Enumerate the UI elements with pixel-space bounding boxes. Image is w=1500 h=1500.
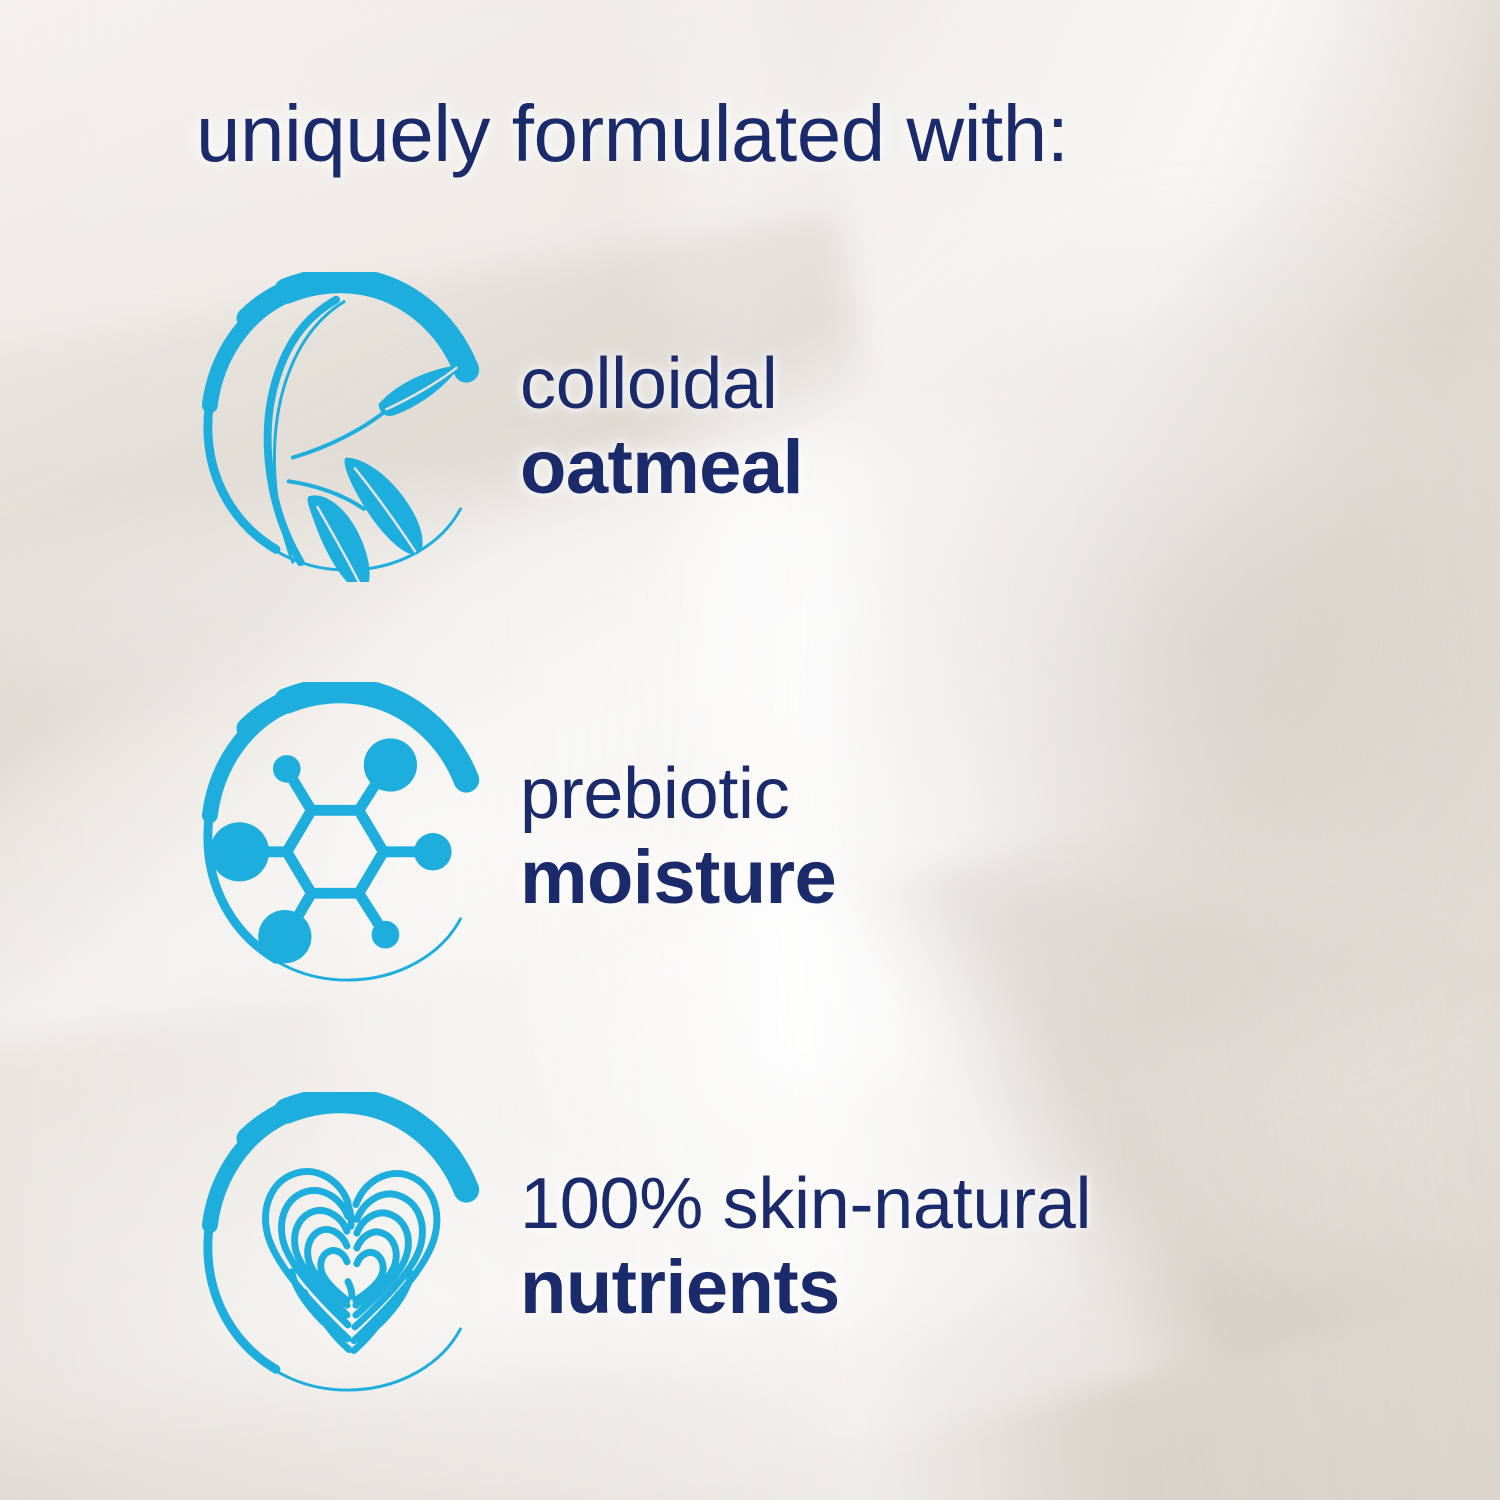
feature-item-moisture: prebiotic moisture [0,682,1500,992]
fingerprint-heart-icon [198,1092,494,1402]
feature-text-oatmeal: colloidal oatmeal [520,272,803,582]
molecule-icon [198,682,494,992]
feature-line-bold: oatmeal [520,427,803,508]
feature-line-light: colloidal [520,346,803,423]
feature-item-oatmeal: colloidal oatmeal [0,272,1500,582]
oat-sprig-icon [198,272,494,582]
feature-text-nutrients: 100% skin-natural nutrients [520,1092,1091,1402]
content-layer: uniquely formulated with: [0,0,1500,1500]
feature-line-bold: nutrients [520,1247,1091,1328]
feature-item-nutrients: 100% skin-natural nutrients [0,1092,1500,1402]
feature-text-moisture: prebiotic moisture [520,682,836,992]
feature-line-bold: moisture [520,837,836,918]
feature-line-light: prebiotic [520,756,836,833]
feature-line-light: 100% skin-natural [520,1166,1091,1243]
page-title: uniquely formulated with: [196,88,1068,180]
promo-panel: uniquely formulated with: [0,0,1500,1500]
